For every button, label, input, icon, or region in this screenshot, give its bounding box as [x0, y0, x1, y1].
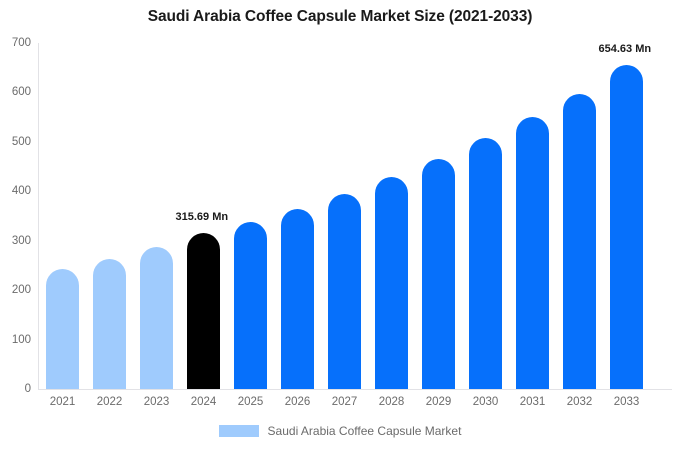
- x-axis-tick-label: 2023: [133, 396, 180, 408]
- bar[interactable]: [187, 233, 220, 389]
- x-axis-tick-label: 2026: [274, 396, 321, 408]
- bar[interactable]: [516, 117, 549, 389]
- x-axis-tick-label: 2029: [415, 396, 462, 408]
- bar-value-label: 315.69 Mn: [176, 211, 229, 223]
- x-axis-tick-label: 2032: [556, 396, 603, 408]
- x-axis-tick-label: 2021: [39, 396, 86, 408]
- x-axis-tick-label: 2028: [368, 396, 415, 408]
- y-axis-tick-label: 600: [0, 86, 31, 98]
- bar[interactable]: [46, 269, 79, 389]
- bar[interactable]: [563, 94, 596, 389]
- x-axis-tick-label: 2022: [86, 396, 133, 408]
- bar[interactable]: [93, 259, 126, 389]
- y-axis-tick-label: 100: [0, 334, 31, 346]
- chart-title: Saudi Arabia Coffee Capsule Market Size …: [0, 8, 680, 26]
- y-axis-tick-label: 400: [0, 185, 31, 197]
- bar[interactable]: [328, 194, 361, 389]
- y-axis-tick-label: 0: [0, 383, 31, 395]
- legend-label: Saudi Arabia Coffee Capsule Market: [268, 424, 462, 438]
- y-axis-tick-label: 300: [0, 235, 31, 247]
- x-axis-tick-label: 2033: [603, 396, 650, 408]
- bar[interactable]: [234, 222, 267, 389]
- bar[interactable]: [422, 159, 455, 389]
- bar[interactable]: [375, 177, 408, 389]
- y-axis-tick-label: 500: [0, 136, 31, 148]
- y-axis-tick-label: 700: [0, 37, 31, 49]
- x-axis-tick-label: 2025: [227, 396, 274, 408]
- legend-swatch-icon: [219, 425, 259, 437]
- bar[interactable]: [469, 138, 502, 389]
- bar[interactable]: [140, 247, 173, 389]
- bar-value-label: 654.63 Mn: [599, 43, 652, 55]
- x-axis-tick-label: 2031: [509, 396, 556, 408]
- y-axis-tick-label: 200: [0, 284, 31, 296]
- plot-area: [38, 43, 672, 389]
- chart-legend: Saudi Arabia Coffee Capsule Market: [0, 424, 680, 438]
- bar[interactable]: [610, 65, 643, 389]
- bar[interactable]: [281, 209, 314, 389]
- x-axis-line: [38, 389, 672, 390]
- x-axis-tick-label: 2024: [180, 396, 227, 408]
- x-axis-tick-label: 2030: [462, 396, 509, 408]
- x-axis-tick-label: 2027: [321, 396, 368, 408]
- bar-chart: Saudi Arabia Coffee Capsule Market Size …: [0, 0, 680, 450]
